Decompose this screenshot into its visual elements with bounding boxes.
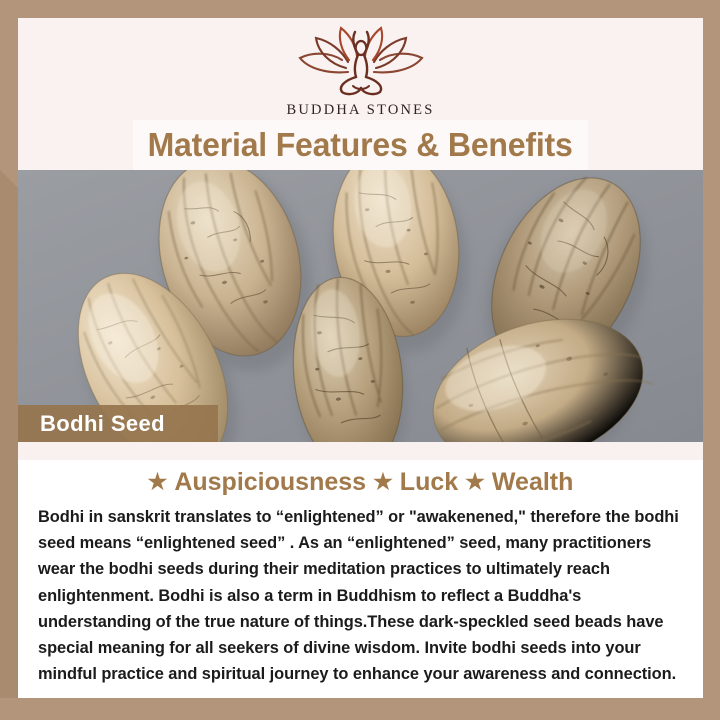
frame-left-band — [0, 170, 18, 720]
description-paragraph: Bodhi in sanskrit translates to “enlight… — [38, 504, 688, 687]
benefit-label-wealth: Wealth — [492, 468, 574, 496]
brand-name: BUDDHA STONES — [287, 102, 435, 119]
photo-caption: Bodhi Seed — [40, 411, 165, 437]
brand-logo: BUDDHA STONES — [18, 24, 703, 119]
content-top-tint — [18, 442, 703, 460]
star-icon-1: ★ — [148, 469, 168, 494]
benefit-label-auspiciousness: Auspiciousness — [174, 468, 366, 496]
bodhi-seeds-illustration — [18, 170, 703, 442]
star-icon-2: ★ — [373, 469, 393, 494]
frame-right-band — [703, 0, 720, 720]
lotus-meditation-icon — [286, 24, 436, 100]
page-title-band: Material Features & Benefits — [133, 120, 588, 170]
header: BUDDHA STONES Material Features & Benefi… — [18, 18, 703, 170]
content-card: ★Auspiciousness★Luck★Wealth Bodhi in san… — [18, 442, 703, 698]
benefit-label-luck: Luck — [400, 468, 458, 496]
frame-bottom-band — [0, 698, 720, 720]
benefits-headline: ★Auspiciousness★Luck★Wealth — [18, 468, 703, 497]
frame-top-band — [0, 0, 720, 18]
page-title: Material Features & Benefits — [148, 126, 573, 164]
photo-caption-band: Bodhi Seed — [18, 405, 218, 442]
promo-banner: BUDDHA STONES Material Features & Benefi… — [0, 0, 720, 720]
product-photo — [18, 170, 703, 442]
star-icon-3: ★ — [465, 469, 485, 494]
